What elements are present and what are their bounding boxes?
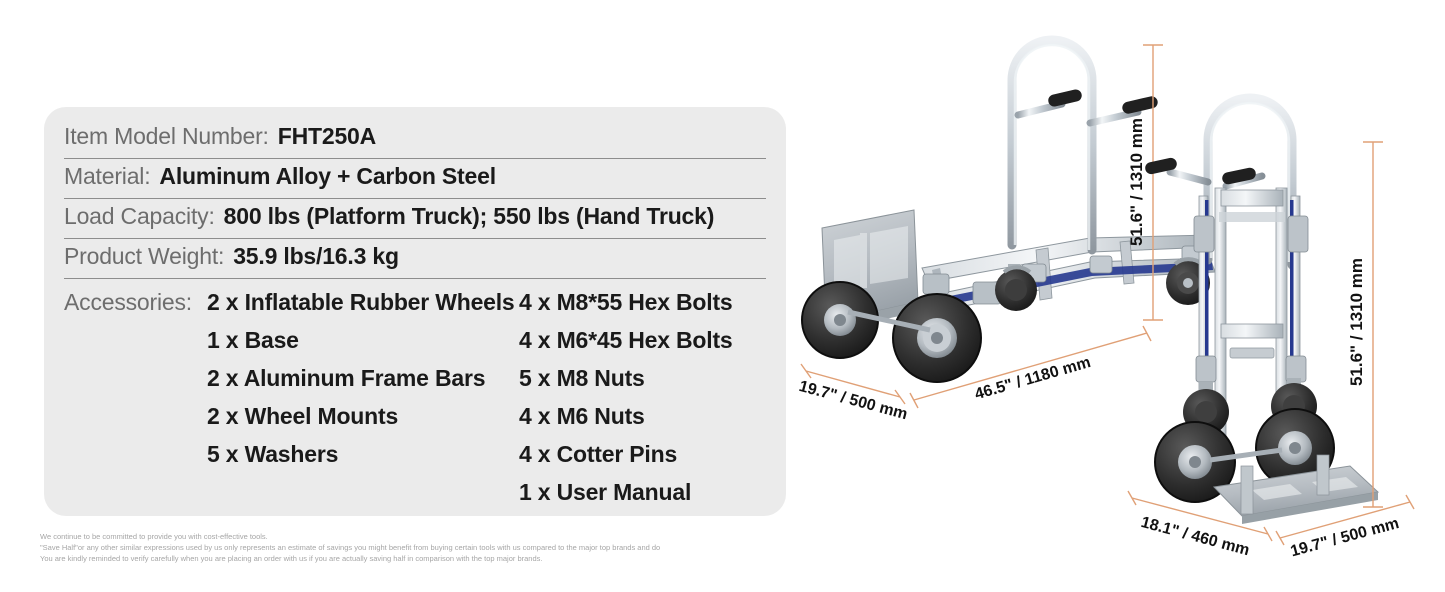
disclaimer-line-3: You are kindly reminded to verify carefu…	[40, 553, 800, 564]
spec-value-material: Aluminum Alloy + Carbon Steel	[159, 163, 495, 190]
spec-value-model: FHT250A	[278, 123, 376, 150]
spec-rows: Item Model Number: FHT250A Material: Alu…	[64, 119, 766, 516]
accessory-item: 4 x M8*55 Hex Bolts	[519, 283, 766, 321]
spec-row-material: Material: Aluminum Alloy + Carbon Steel	[64, 159, 766, 199]
dimension-label-platform-width: 19.7" / 500 mm	[797, 378, 909, 423]
spec-row-load-capacity: Load Capacity: 800 lbs (Platform Truck);…	[64, 199, 766, 239]
platform-truck-illustration: 51.6" / 1310 mm 19.7" / 500 mm 46.5" / 1…	[797, 40, 1215, 423]
spec-row-model: Item Model Number: FHT250A	[64, 119, 766, 159]
spec-value-product-weight: 35.9 lbs/16.3 kg	[233, 243, 399, 270]
disclaimer-line-1: We continue to be committed to provide y…	[40, 531, 800, 542]
dimension-label-handtruck-width: 19.7" / 500 mm	[1289, 515, 1401, 560]
accessory-item: 4 x M6*45 Hex Bolts	[519, 321, 766, 359]
dimension-platform-height	[1143, 45, 1163, 320]
accessory-item: 2 x Aluminum Frame Bars	[207, 359, 519, 397]
accessories-column-right: 4 x M8*55 Hex Bolts 4 x M6*45 Hex Bolts …	[519, 283, 766, 511]
platform-handle-loop	[1012, 40, 1092, 250]
hand-truck-side-grips	[1144, 157, 1262, 186]
disclaimer-line-2: "Save Half"or any other similar expressi…	[40, 542, 800, 553]
accessory-item: 1 x Base	[207, 321, 519, 359]
platform-pneumatic-wheel-left	[802, 282, 878, 358]
dimension-label-platform-height: 51.6" / 1310 mm	[1127, 118, 1146, 246]
dimension-handtruck-height	[1363, 142, 1383, 507]
accessory-item: 4 x Cotter Pins	[519, 435, 766, 473]
spec-value-load-capacity: 800 lbs (Platform Truck); 550 lbs (Hand …	[224, 203, 715, 230]
disclaimer-block: We continue to be committed to provide y…	[40, 531, 800, 564]
spec-row-product-weight: Product Weight: 35.9 lbs/16.3 kg	[64, 239, 766, 279]
platform-pneumatic-wheel-right	[893, 294, 981, 382]
accessory-item: 2 x Wheel Mounts	[207, 397, 519, 435]
accessories-column-left: 2 x Inflatable Rubber Wheels 1 x Base 2 …	[207, 283, 519, 511]
product-illustrations: 51.6" / 1310 mm 19.7" / 500 mm 46.5" / 1…	[790, 0, 1445, 592]
accessory-item: 5 x M8 Nuts	[519, 359, 766, 397]
accessory-item: 5 x Washers	[207, 435, 519, 473]
dimension-label-handtruck-depth: 18.1" / 460 mm	[1139, 514, 1251, 559]
platform-caster-wheel-rear	[995, 264, 1037, 311]
spec-label-product-weight: Product Weight:	[64, 243, 224, 270]
accessory-item: 2 x Inflatable Rubber Wheels	[207, 283, 519, 321]
accessories-columns: 2 x Inflatable Rubber Wheels 1 x Base 2 …	[207, 283, 766, 511]
dimension-label-platform-length: 46.5" / 1180 mm	[973, 354, 1093, 403]
specification-card: Item Model Number: FHT250A Material: Alu…	[44, 107, 786, 516]
spec-row-accessories: Accessories: 2 x Inflatable Rubber Wheel…	[64, 279, 766, 516]
spec-label-load-capacity: Load Capacity:	[64, 203, 215, 230]
spec-label-model: Item Model Number:	[64, 123, 269, 150]
spec-label-material: Material:	[64, 163, 150, 190]
dimension-label-handtruck-height: 51.6" / 1310 mm	[1347, 258, 1366, 386]
spec-label-accessories: Accessories:	[64, 289, 207, 316]
accessory-item: 1 x User Manual	[519, 473, 766, 511]
accessory-item: 4 x M6 Nuts	[519, 397, 766, 435]
hand-truck-illustration: 51.6" / 1310 mm 18.1" / 460 mm 19.7" / 5…	[1128, 98, 1414, 560]
